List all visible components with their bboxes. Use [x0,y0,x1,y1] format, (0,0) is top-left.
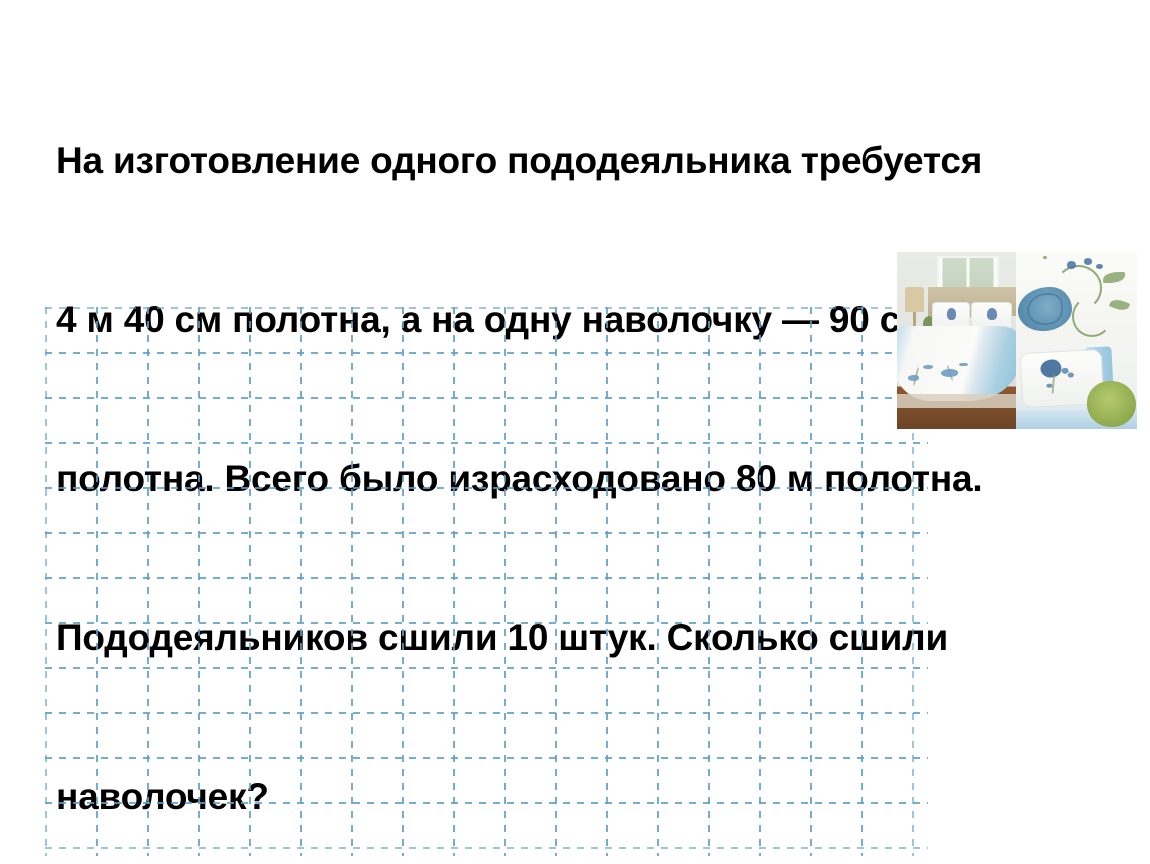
duvet-cover-shape [897,326,1016,400]
grid-line-vertical [861,307,863,856]
photo-panel-embroidery-closeup [1016,252,1137,344]
grid-line-horizontal [45,577,928,579]
notebook-grid [45,307,928,856]
grid-line-vertical [657,307,659,856]
grid-line-horizontal [45,487,928,489]
grid-line-horizontal [45,442,928,444]
grid-line-vertical [147,307,149,856]
grid-line-horizontal [45,622,928,624]
grid-line-horizontal [45,802,928,804]
grid-line-vertical [708,307,710,856]
grid-line-vertical [504,307,506,856]
stem-shape [1052,375,1056,393]
bud-shape [1067,261,1077,268]
grid-line-vertical [96,307,98,856]
grid-line-horizontal [45,307,928,309]
flower-shape [908,375,920,380]
bud-shape [1068,372,1074,377]
bedding-collage-image [897,252,1137,429]
flower-shape [941,369,958,376]
flower-shape [1040,359,1062,378]
bud-shape [1043,256,1048,260]
bud-shape [1096,264,1103,270]
hydrangea-shape [1087,381,1135,427]
grid-line-horizontal [45,352,928,354]
bud-shape [1046,383,1052,388]
problem-line-1: На изготовление одного пододеяльника тре… [56,134,1066,187]
grid-line-vertical [810,307,812,856]
grid-line-vertical [249,307,251,856]
grid-line-vertical [351,307,353,856]
grid-line-horizontal [45,757,928,759]
vine-shape [1072,296,1112,337]
grid-line-vertical [45,307,47,856]
bud-shape [1084,258,1092,264]
grid-line-horizontal [45,397,928,399]
grid-line-horizontal [45,532,928,534]
flower-shape [923,365,933,369]
slide-canvas: На изготовление одного пододеяльника тре… [0,0,1150,864]
grid-line-vertical [300,307,302,856]
lamp-shape [905,287,924,312]
leaf-shape [1109,297,1131,314]
grid-line-vertical [402,307,404,856]
grid-line-vertical [555,307,557,856]
flower-shape [959,363,968,367]
grid-line-vertical [759,307,761,856]
grid-line-horizontal [45,712,928,714]
flower-shape [1018,287,1071,331]
rug-shape [897,394,1016,408]
photo-panel-bedroom-scene [897,252,1016,429]
leaf-shape [1103,272,1125,283]
grid-line-horizontal [45,847,928,849]
grid-line-horizontal [45,667,928,669]
grid-line-vertical [606,307,608,856]
grid-line-vertical [453,307,455,856]
photo-panel-pillowcase-closeup [1016,344,1137,429]
grid-line-vertical [198,307,200,856]
